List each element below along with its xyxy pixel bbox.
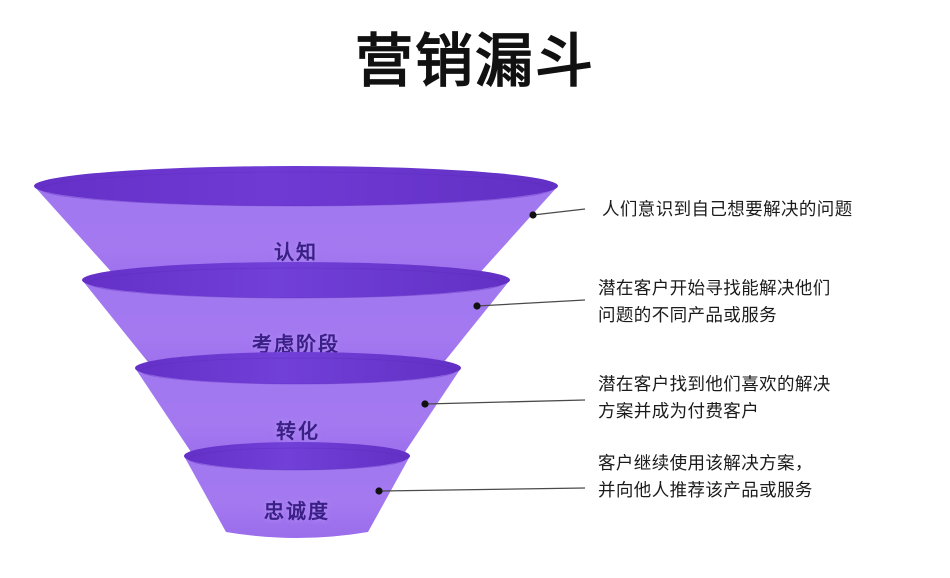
funnel-diagram-canvas: 营销漏斗 xyxy=(0,0,950,578)
funnel-graphic: 认知 xyxy=(0,150,600,550)
stage-description-loyalty: 客户继续使用该解决方案， 并向他人推荐该产品或服务 xyxy=(598,450,938,504)
stage-rim xyxy=(82,262,510,298)
funnel-stage-loyalty-shape xyxy=(182,440,412,545)
stage-description-consideration: 潜在客户开始寻找能解决他们 问题的不同产品或服务 xyxy=(598,275,938,329)
funnel-stage-loyalty[interactable]: 忠诚度 xyxy=(182,440,412,545)
stage-rim xyxy=(184,442,410,470)
stage-description-awareness: 人们意识到自己想要解决的问题 xyxy=(602,196,932,223)
page-title: 营销漏斗 xyxy=(0,26,950,98)
stage-rim xyxy=(135,352,461,384)
stage-description-conversion: 潜在客户找到他们喜欢的解决 方案并成为付费客户 xyxy=(598,371,928,425)
